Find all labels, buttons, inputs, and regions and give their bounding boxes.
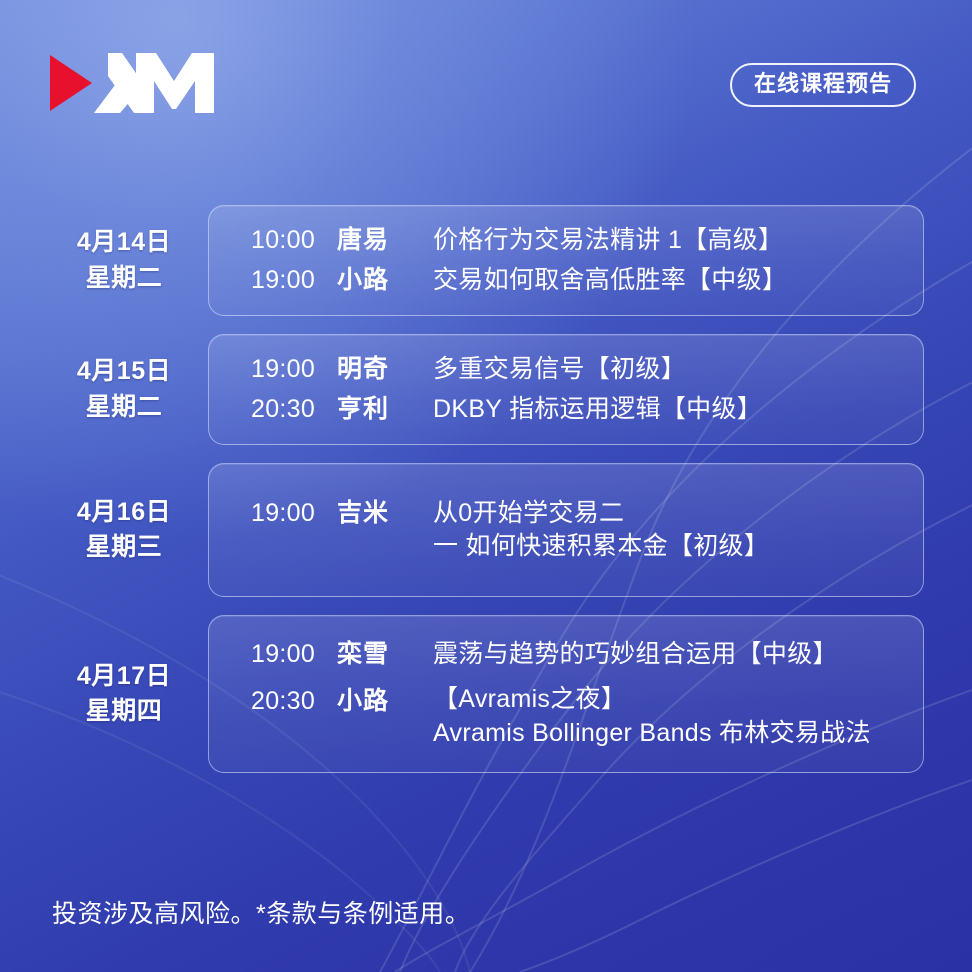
weekday-label: 星期四 [48,694,200,730]
poster-header: 在线课程预告 [48,40,924,126]
session-card[interactable]: 19:00 明奇 多重交易信号【初级】 20:30 亨利 DKBY 指标运用逻辑… [208,334,924,445]
session-card[interactable]: 19:00 吉米 从0开始学交易二 一 如何快速积累本金【初级】 [208,463,924,597]
session-item: 10:00 唐易 价格行为交易法精讲 1【高级】 [229,224,903,258]
online-course-preview-badge: 在线课程预告 [730,63,916,107]
session-item: 19:00 明奇 多重交易信号【初级】 [229,353,903,387]
date-label: 4月16日 [77,498,171,526]
schedule-row: 4月15日 星期二 19:00 明奇 多重交易信号【初级】 20:30 亨利 D… [48,334,924,445]
schedule-row: 4月14日 星期二 10:00 唐易 价格行为交易法精讲 1【高级】 19:00… [48,205,924,316]
session-item: 19:00 吉米 从0开始学交易二 一 如何快速积累本金【初级】 [229,497,903,564]
session-host: 小路 [337,264,433,297]
date-cell: 4月17日 星期四 [48,659,200,730]
date-cell: 4月14日 星期二 [48,225,200,296]
weekday-label: 星期三 [48,530,200,566]
session-title: 震荡与趋势的巧妙组合运用【中级】 [433,638,903,672]
session-time: 20:30 [229,683,337,718]
session-item: 19:00 小路 交易如何取舍高低胜率【中级】 [229,264,903,298]
play-triangle-icon [50,55,92,111]
schedule-row: 4月17日 星期四 19:00 栾雪 震荡与趋势的巧妙组合运用【中级】 20:3… [48,615,924,773]
session-time: 19:00 [229,638,337,671]
session-time: 19:00 [229,353,337,386]
session-item: 20:30 亨利 DKBY 指标运用逻辑【中级】 [229,393,903,427]
session-host: 小路 [337,683,433,718]
weekday-label: 星期二 [48,390,200,426]
date-label: 4月14日 [77,228,171,256]
session-host: 吉米 [337,497,433,530]
weekday-label: 星期二 [48,261,200,297]
xm-logo [48,44,218,122]
date-label: 4月15日 [77,357,171,385]
session-host: 亨利 [337,393,433,426]
promo-poster: 在线课程预告 4月14日 星期二 10:00 唐易 价格行为交易法精讲 1【高级… [0,0,972,972]
session-item: 20:30 小路 【Avramis之夜】 Avramis Bollinger B… [229,683,903,750]
session-title: 从0开始学交易二 一 如何快速积累本金【初级】 [433,497,903,564]
session-card[interactable]: 19:00 栾雪 震荡与趋势的巧妙组合运用【中级】 20:30 小路 【Avra… [208,615,924,773]
session-host: 唐易 [337,224,433,257]
session-time: 19:00 [229,264,337,297]
session-time: 20:30 [229,393,337,426]
session-card[interactable]: 10:00 唐易 价格行为交易法精讲 1【高级】 19:00 小路 交易如何取舍… [208,205,924,316]
session-time: 10:00 [229,224,337,257]
date-label: 4月17日 [77,662,171,690]
session-item: 19:00 栾雪 震荡与趋势的巧妙组合运用【中级】 [229,638,903,672]
date-cell: 4月16日 星期三 [48,495,200,566]
session-host: 明奇 [337,353,433,386]
session-title: 价格行为交易法精讲 1【高级】 [433,224,903,258]
schedule-list: 4月14日 星期二 10:00 唐易 价格行为交易法精讲 1【高级】 19:00… [48,205,924,791]
session-title: DKBY 指标运用逻辑【中级】 [433,393,903,427]
session-title: 【Avramis之夜】 Avramis Bollinger Bands 布林交易… [433,683,903,750]
xm-logo-mark [48,45,218,121]
session-host: 栾雪 [337,638,433,671]
schedule-row: 4月16日 星期三 19:00 吉米 从0开始学交易二 一 如何快速积累本金【初… [48,463,924,597]
date-cell: 4月15日 星期二 [48,354,200,425]
session-title: 多重交易信号【初级】 [433,353,903,387]
session-title: 交易如何取舍高低胜率【中级】 [433,264,903,298]
session-time: 19:00 [229,497,337,530]
disclaimer-text: 投资涉及高风险。*条款与条例适用。 [52,894,470,930]
